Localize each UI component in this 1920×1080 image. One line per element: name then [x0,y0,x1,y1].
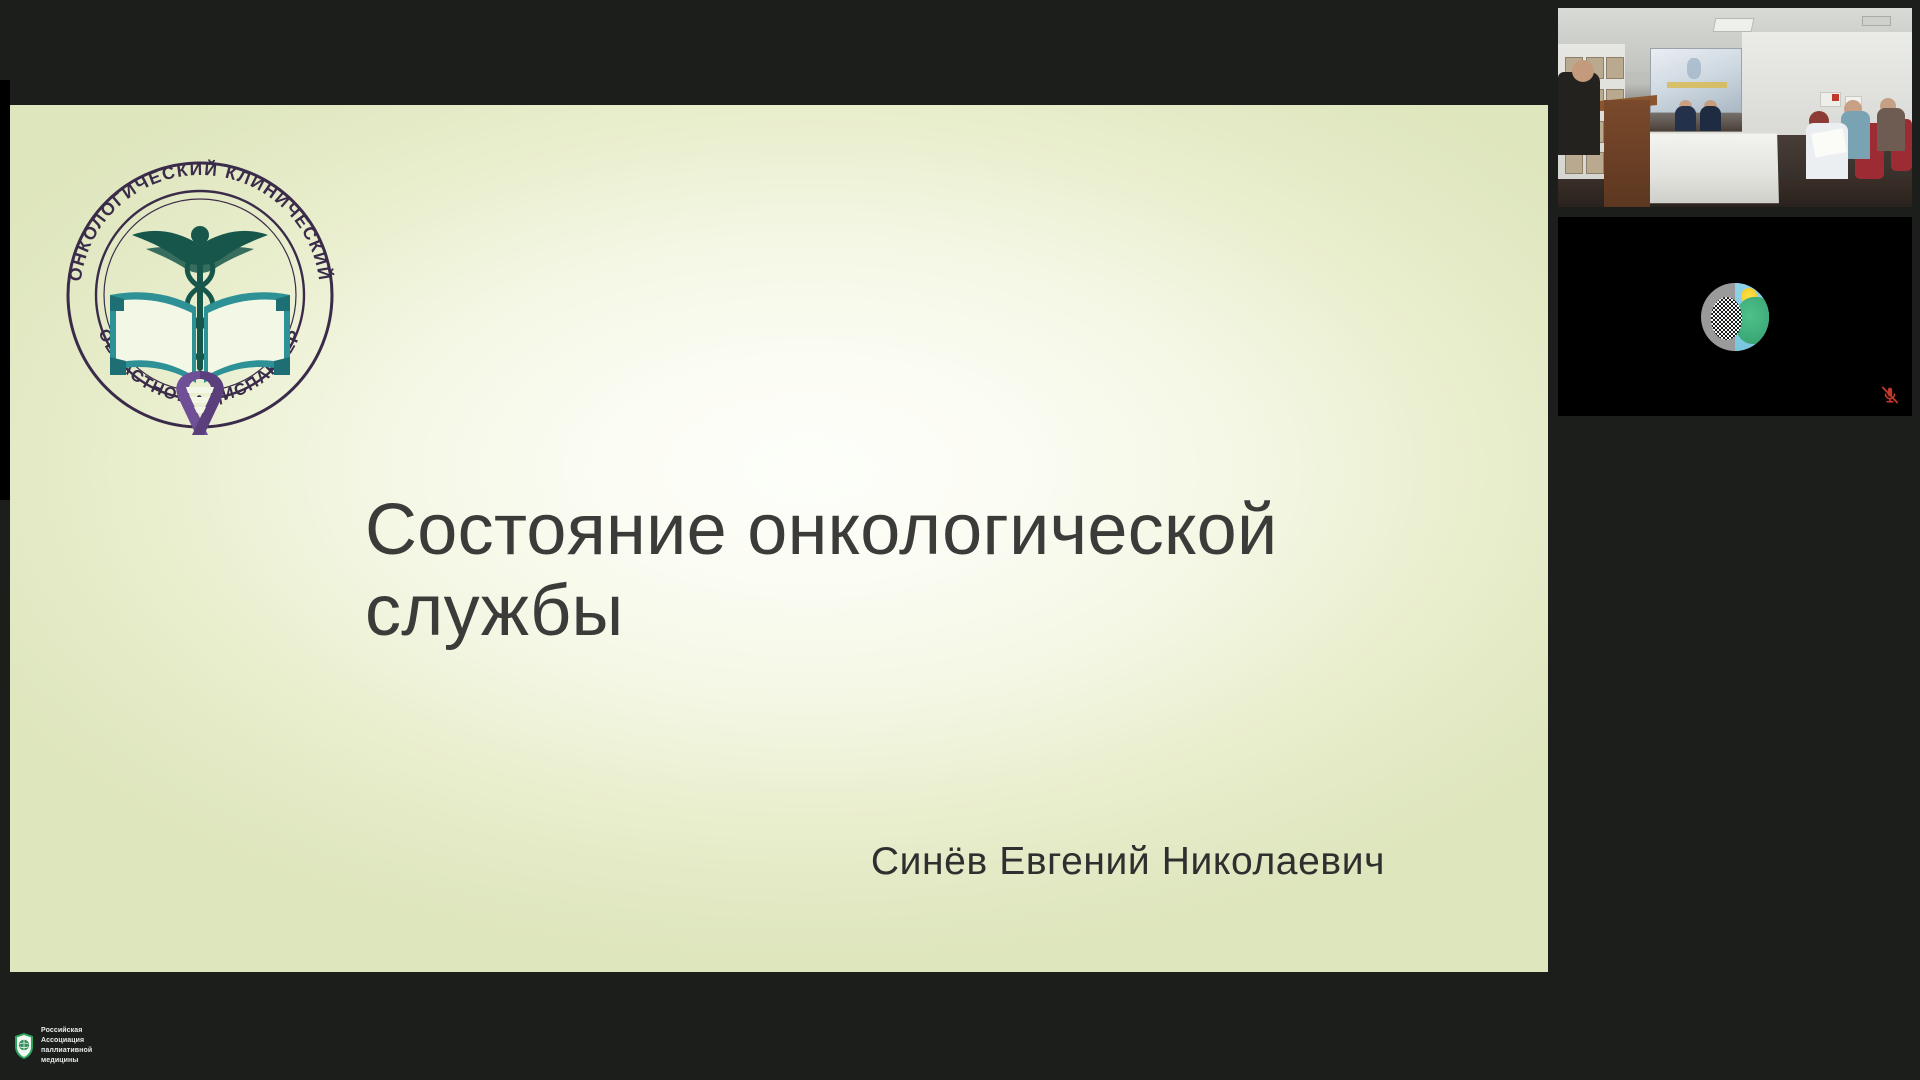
association-logo: Российская Ассоциация паллиативной медиц… [13,1026,92,1066]
slide-title-line-1: Состояние онкологической [365,490,1455,571]
slide-title-line-2: службы [365,571,1455,652]
screen-root: ОНКОЛОГИЧЕСКИЙ КЛИНИЧЕСКИЙ ОБЛАСТНОЙ • Д… [0,0,1920,1080]
participant-avatar-tile[interactable] [1558,217,1912,416]
institution-logo: ОНКОЛОГИЧЕСКИЙ КЛИНИЧЕСКИЙ ОБЛАСТНОЙ • Д… [50,135,350,455]
conference-room-scene [1558,8,1912,207]
left-black-strip [0,80,10,500]
conference-room-video-tile[interactable] [1558,8,1912,207]
video-tile-column [1558,8,1912,426]
avatar [1701,283,1769,351]
association-logo-text: Российская Ассоциация паллиативной медиц… [41,1026,92,1066]
shield-icon [13,1032,35,1060]
microphone-muted-icon[interactable] [1880,384,1900,406]
shared-slide[interactable]: ОНКОЛОГИЧЕСКИЙ КЛИНИЧЕСКИЙ ОБЛАСТНОЙ • Д… [10,105,1548,972]
slide-title: Состояние онкологической службы [365,490,1455,653]
slide-author: Синёв Евгений Николаевич [365,840,1465,884]
